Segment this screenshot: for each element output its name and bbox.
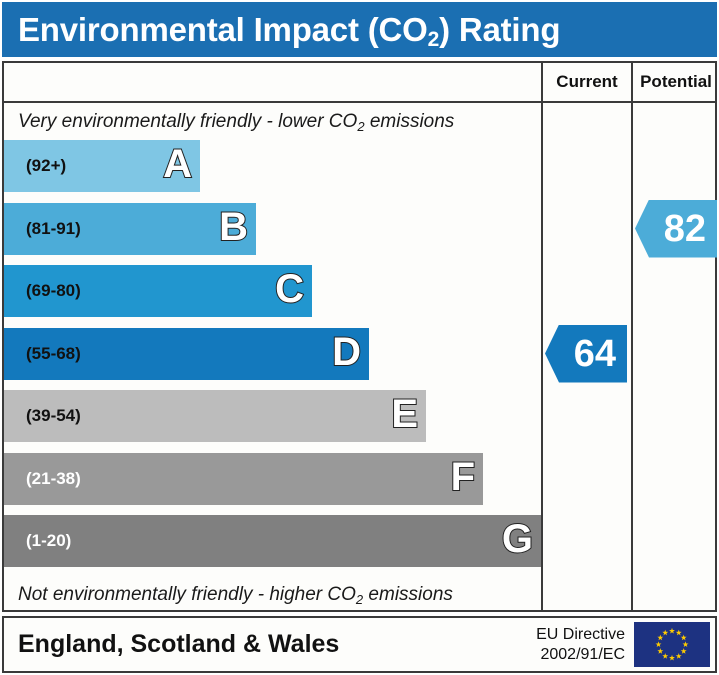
band-letter-f: F [451,457,475,501]
band-range-c: (69-80) [26,281,81,301]
footer-region-label: England, Scotland & Wales [18,630,339,659]
rating-band-e: (39-54)E [4,390,426,442]
band-range-f: (21-38) [26,469,81,489]
band-range-e: (39-54) [26,406,81,426]
band-letter-d: D [332,332,361,376]
band-letter-b: B [219,207,248,251]
caption-bottom-subscript: 2 [356,592,363,607]
caption-top-prefix: Very environmentally friendly - lower CO [18,111,357,132]
footer-eu-directive: EU Directive 2002/91/EC [536,625,625,665]
rating-band-c: (69-80)C [4,265,312,317]
chart-title-bar: Environmental Impact (CO2) Rating [2,2,717,57]
band-range-a: (92+) [26,156,66,176]
potential-rating-value: 82 [664,210,706,248]
column-divider-potential [631,63,633,610]
page-title-subscript: 2 [428,28,439,51]
rating-bands: (92+)A(81-91)B(69-80)C(55-68)D(39-54)E(2… [4,140,541,578]
band-range-b: (81-91) [26,219,81,239]
band-range-d: (55-68) [26,344,81,364]
caption-top-subscript: 2 [357,119,364,134]
caption-not-friendly: Not environmentally friendly - higher CO… [18,584,453,606]
rating-band-a: (92+)A [4,140,200,192]
rating-band-g: (1-20)G [4,515,541,567]
rating-band-b: (81-91)B [4,203,256,255]
rating-table: Current Potential Very environmentally f… [2,61,717,612]
band-letter-c: C [275,269,304,313]
epc-environmental-impact-chart: Environmental Impact (CO2) Rating Curren… [0,0,719,675]
band-letter-a: A [163,144,192,188]
chart-footer: England, Scotland & Wales EU Directive 2… [2,616,717,673]
rating-band-d: (55-68)D [4,328,369,380]
band-letter-e: E [391,394,418,438]
column-header-current: Current [543,63,631,101]
caption-top-suffix: emissions [365,111,455,132]
page-title-suffix: ) Rating [439,11,560,48]
caption-bottom-suffix: emissions [363,584,453,605]
potential-rating-arrow: 82 [635,200,717,258]
column-divider-current [541,63,543,610]
band-range-g: (1-20) [26,531,71,551]
caption-bottom-prefix: Not environmentally friendly - higher CO [18,584,356,605]
column-header-potential: Potential [633,63,719,101]
page-title-prefix: Environmental Impact (CO [18,11,428,48]
footer-directive-line2: 2002/91/EC [536,645,625,665]
current-rating-arrow: 64 [545,325,627,383]
rating-band-f: (21-38)F [4,453,483,505]
page-title: Environmental Impact (CO2) Rating [18,11,560,49]
current-rating-value: 64 [574,335,616,373]
header-row-divider [4,101,715,103]
eu-flag-icon [634,622,710,667]
footer-directive-line1: EU Directive [536,625,625,645]
band-letter-g: G [502,519,533,563]
caption-very-friendly: Very environmentally friendly - lower CO… [18,111,454,133]
